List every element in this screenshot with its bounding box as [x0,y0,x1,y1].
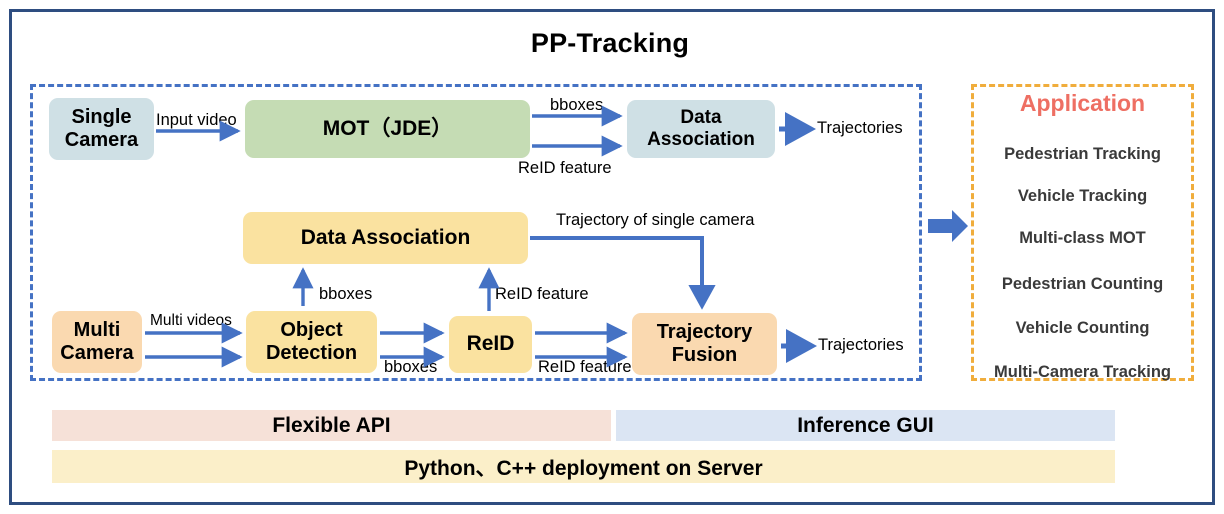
application-item-vehicle-counting[interactable]: Vehicle Counting [971,319,1194,338]
trajectory-fusion-line2: Fusion [672,344,738,366]
output-label-trajectories-multi: Trajectories [818,336,904,355]
multi-camera-line1: Multi [74,319,121,341]
edge-label-reid-low: ReID feature [538,358,632,377]
edge-label-reid-up: ReID feature [495,285,589,304]
diagram-canvas: PP-Tracking Single Camera Input video MO… [0,0,1224,514]
application-item-multi-class-mot[interactable]: Multi-class MOT [971,229,1194,248]
deployment-bar[interactable]: Python、C++ deployment on Server [52,450,1115,483]
application-item-vehicle-tracking[interactable]: Vehicle Tracking [971,187,1194,206]
edge-label-bboxes-top: bboxes [550,96,603,115]
data-association-single-line2: Association [647,129,755,150]
page-title: PP-Tracking [380,28,840,59]
data-association-single-line1: Data [680,107,721,128]
data-association-multi-box[interactable]: Data Association [243,212,528,264]
application-item-pedestrian-tracking[interactable]: Pedestrian Tracking [971,145,1194,164]
edge-label-trajectory-single-camera: Trajectory of single camera [556,211,754,230]
flexible-api-bar[interactable]: Flexible API [52,410,611,441]
mot-jde-label: MOT（JDE） [323,117,453,141]
application-item-pedestrian-counting[interactable]: Pedestrian Counting [971,275,1194,294]
multi-camera-line2: Camera [60,342,133,364]
flexible-api-label: Flexible API [272,414,390,438]
deployment-label: Python、C++ deployment on Server [404,452,762,482]
single-camera-box[interactable]: Single Camera [49,98,154,160]
trajectory-fusion-box[interactable]: Trajectory Fusion [632,313,777,375]
edge-label-multi-videos: Multi videos [150,312,232,330]
single-camera-line2: Camera [65,129,138,151]
reid-box[interactable]: ReID [449,316,532,373]
application-title: Application [971,90,1194,117]
object-detection-box[interactable]: Object Detection [246,311,377,373]
application-item-multi-camera-tracking[interactable]: Multi-Camera Tracking [971,363,1194,382]
data-association-multi-label: Data Association [301,226,471,250]
edge-label-bboxes-up: bboxes [319,285,372,304]
inference-gui-label: Inference GUI [797,414,934,438]
trajectory-fusion-line1: Trajectory [657,321,753,343]
inference-gui-bar[interactable]: Inference GUI [616,410,1115,441]
edge-label-reid-top: ReID feature [518,159,612,178]
object-detection-line2: Detection [266,342,357,364]
output-label-trajectories-single: Trajectories [817,119,903,138]
object-detection-line1: Object [280,319,342,341]
reid-label: ReID [467,332,515,356]
multi-camera-box[interactable]: Multi Camera [52,311,142,373]
edge-label-bboxes-low: bboxes [384,358,437,377]
mot-jde-box[interactable]: MOT（JDE） [245,100,530,158]
data-association-single-box[interactable]: Data Association [627,100,775,158]
edge-label-input-video: Input video [156,111,237,130]
single-camera-line1: Single [71,106,131,128]
